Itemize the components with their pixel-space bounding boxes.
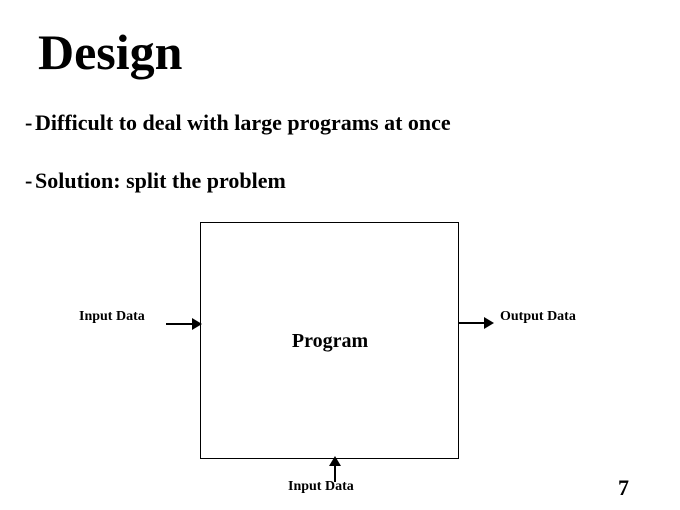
output-right-arrow-icon bbox=[458, 313, 494, 333]
page-number: 7 bbox=[618, 475, 629, 501]
program-box-label: Program bbox=[200, 330, 460, 353]
program-diagram: Program Input Data Output Data Input Dat… bbox=[0, 0, 680, 510]
input-left-label: Input Data bbox=[79, 309, 145, 325]
input-left-arrow-icon bbox=[166, 314, 202, 334]
slide: Design - Difficult to deal with large pr… bbox=[0, 0, 680, 510]
input-bottom-label: Input Data bbox=[288, 479, 354, 495]
output-right-label: Output Data bbox=[500, 309, 576, 325]
